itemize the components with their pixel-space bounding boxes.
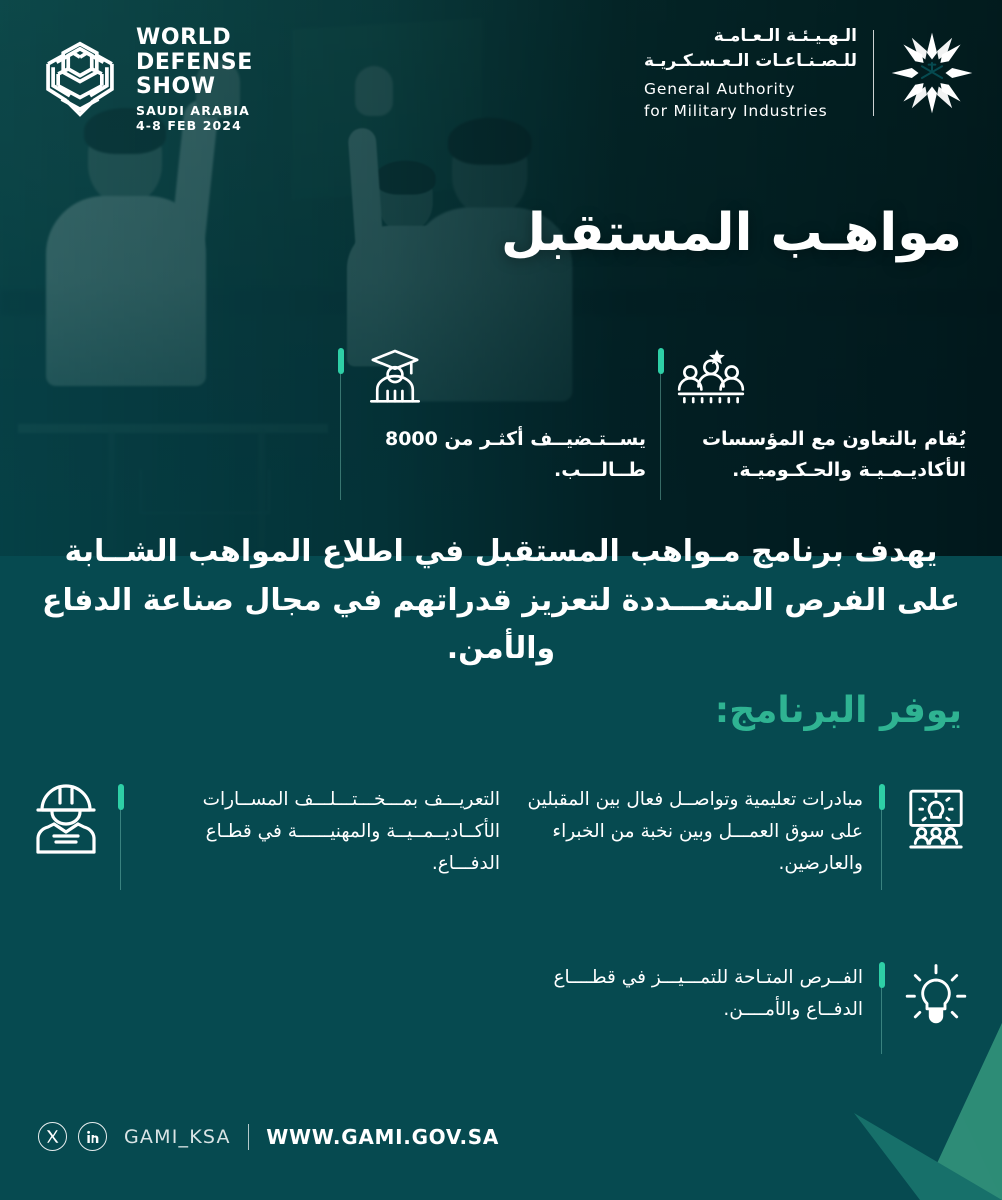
feature-divider-2	[120, 784, 121, 890]
gami-arabic-line-1: الـهـيـئـة الـعـامـة	[644, 24, 857, 49]
feature-item-career-paths: التعريـــف بمـــخـــتـــلـــف المســارات…	[30, 784, 500, 890]
x-glyph-icon	[45, 1129, 60, 1144]
world-defense-show-knot-logo-icon	[38, 37, 122, 121]
website-url[interactable]: WWW.GAMI.GOV.SA	[266, 1125, 499, 1149]
stat-divider-1	[660, 348, 661, 500]
feature-text-initiatives: مبادرات تعليمية وتواصــل فعال بين المقبل…	[502, 784, 863, 879]
feature-text-career-paths: التعريـــف بمـــخـــتـــلـــف المســارات…	[139, 784, 500, 879]
wds-line-3: SHOW	[136, 75, 253, 100]
wds-country: SAUDI ARABIA	[136, 103, 253, 118]
feature-item-opportunities: الفــرص المتـاحة للتمـــيـــز في قطــــا…	[502, 962, 972, 1054]
people-group-star-icon	[674, 348, 748, 406]
section-heading: يوفر البرنامج:	[715, 690, 962, 731]
stat-divider-2	[340, 348, 341, 500]
wds-line-2: DEFENSE	[136, 51, 253, 76]
feature-divider-3	[881, 962, 882, 1054]
world-defense-show-logo: WORLD DEFENSE SHOW SAUDI ARABIA 4-8 FEB …	[38, 26, 253, 133]
gami-divider	[873, 30, 874, 116]
saudi-palm-swords-star-emblem-icon	[890, 31, 974, 115]
wds-dates: 4-8 FEB 2024	[136, 118, 253, 133]
lightbulb-idea-icon	[900, 962, 972, 1034]
gami-arabic-line-2: للـصـنـاعـات الـعـسـكـريـة	[644, 49, 857, 74]
poster-root: WORLD DEFENSE SHOW SAUDI ARABIA 4-8 FEB …	[0, 0, 1002, 1200]
engineer-hardhat-icon	[30, 784, 102, 856]
stat-block-collaboration: يُقام بالتعاون مع المؤسسات الأكاديـمـيـة…	[674, 348, 966, 486]
presentation-lightbulb-audience-icon	[900, 784, 972, 856]
stat-text-collaboration: يُقام بالتعاون مع المؤسسات الأكاديـمـيـة…	[674, 424, 966, 487]
graduate-student-icon	[358, 348, 432, 406]
gami-english-line-1: General Authority	[644, 79, 857, 101]
poster-header: WORLD DEFENSE SHOW SAUDI ARABIA 4-8 FEB …	[0, 0, 1002, 140]
gami-english-line-2: for Military Industries	[644, 101, 857, 123]
feature-item-initiatives: مبادرات تعليمية وتواصــل فعال بين المقبل…	[502, 784, 972, 890]
feature-divider-1	[881, 784, 882, 890]
wds-line-1: WORLD	[136, 26, 253, 51]
feature-text-opportunities: الفــرص المتـاحة للتمـــيـــز في قطــــا…	[502, 962, 863, 1026]
linkedin-glyph-icon	[85, 1129, 101, 1145]
lead-paragraph: يهدف برنامج مـواهب المستقبل في اطلاع الم…	[36, 528, 966, 674]
social-handle: GAMI_KSA	[124, 1126, 231, 1148]
poster-footer: GAMI_KSA WWW.GAMI.GOV.SA	[38, 1122, 499, 1151]
linkedin-icon[interactable]	[78, 1122, 107, 1151]
page-title: مواهـب المستقبل	[501, 203, 962, 263]
gami-logo: الـهـيـئـة الـعـامـة للـصـنـاعـات الـعـس…	[644, 24, 974, 123]
x-twitter-icon[interactable]	[38, 1122, 67, 1151]
stat-block-students: يســتـضيــف أكثـر من 8000 طــالـــب.	[358, 348, 646, 486]
stat-text-students: يســتـضيــف أكثـر من 8000 طــالـــب.	[358, 424, 646, 487]
footer-separator	[248, 1124, 250, 1150]
